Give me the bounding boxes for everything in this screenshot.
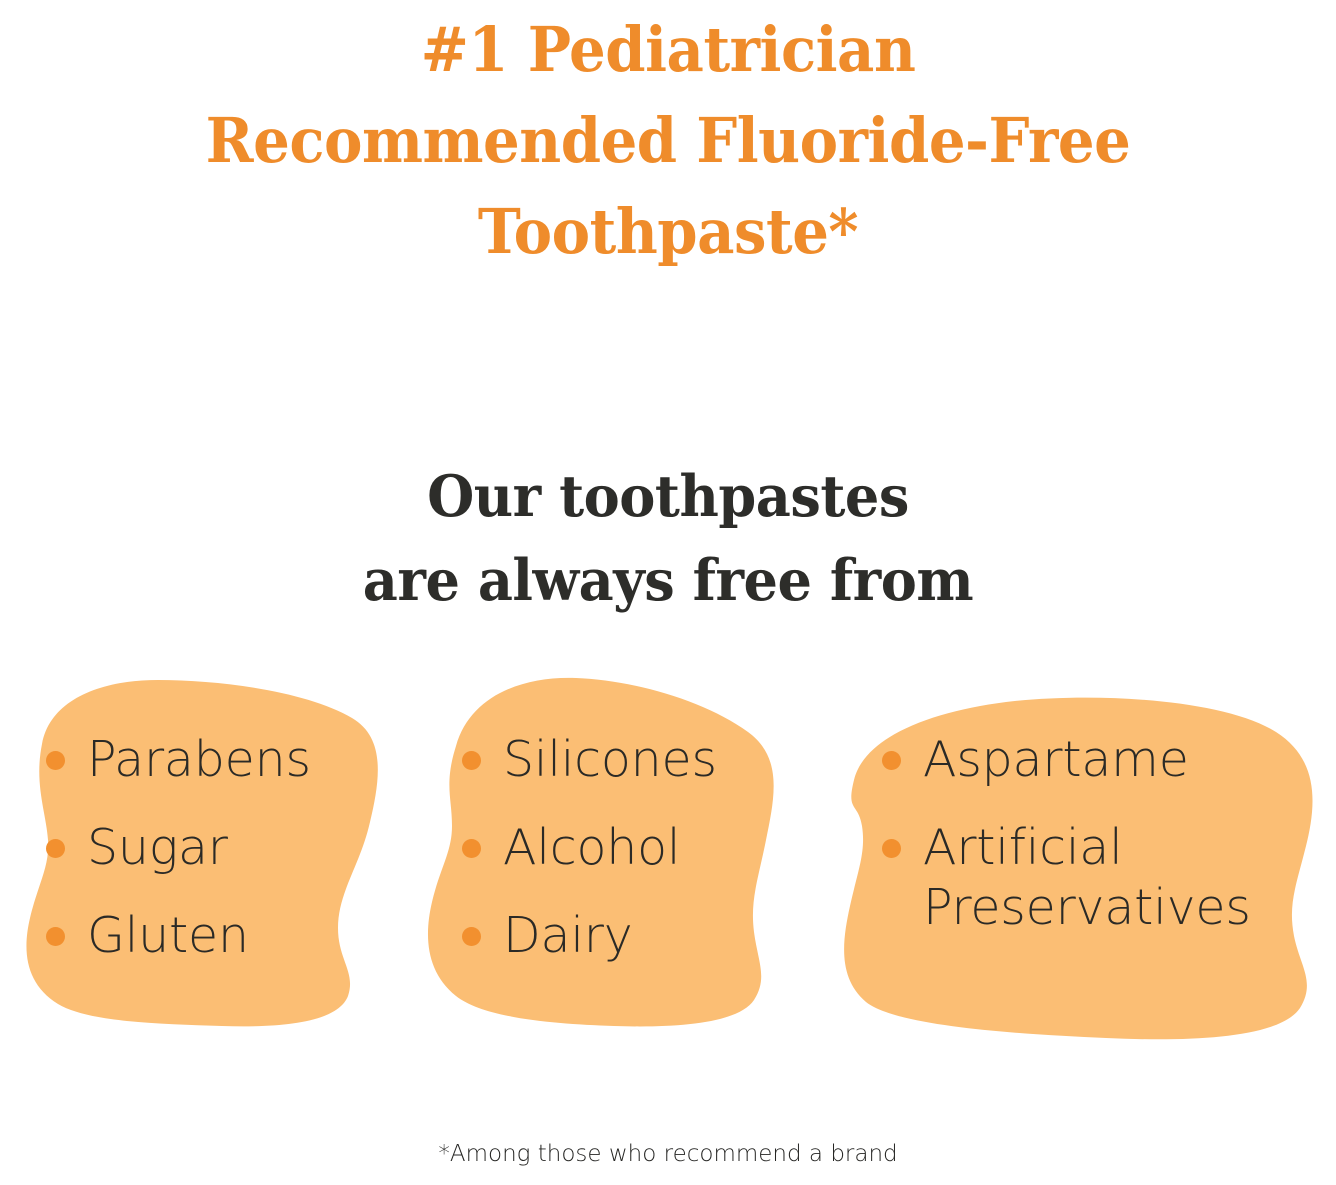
- list-item-label: Gluten: [87, 906, 249, 966]
- list-item: Aspartame: [882, 730, 1189, 790]
- list-item-label: Alcohol: [503, 818, 680, 878]
- list-item: Alcohol: [462, 818, 680, 878]
- list-item: Sugar: [46, 818, 228, 878]
- list-item-label: Parabens: [87, 730, 311, 790]
- bullet-dot-icon: [882, 839, 901, 858]
- list-item: Parabens: [46, 730, 311, 790]
- page-headline: #1 Pediatrician Recommended Fluoride-Fre…: [47, 4, 1289, 277]
- bullet-dot-icon: [46, 927, 65, 946]
- list-item: Silicones: [462, 730, 717, 790]
- list-item-label: Dairy: [503, 906, 633, 966]
- headline-line-2: Recommended Fluoride-Free: [47, 95, 1289, 186]
- free-from-list-3: Aspartame Artificial Preservatives: [838, 660, 1330, 1040]
- subheading-line-1: Our toothpastes: [33, 455, 1302, 539]
- bullet-dot-icon: [46, 751, 65, 770]
- headline-line-1: #1 Pediatrician: [47, 4, 1289, 95]
- free-from-list-1: Parabens Sugar Gluten: [8, 660, 388, 1040]
- footnote-disclaimer: *Among those who recommend a brand: [0, 1141, 1336, 1167]
- bullet-dot-icon: [462, 751, 481, 770]
- list-item-label: Silicones: [503, 730, 717, 790]
- list-item-label: Sugar: [87, 818, 228, 878]
- section-subheading: Our toothpastes are always free from: [33, 455, 1302, 623]
- free-from-list-2: Silicones Alcohol Dairy: [418, 660, 793, 1040]
- list-item: Gluten: [46, 906, 249, 966]
- list-item: Artificial Preservatives: [882, 818, 1251, 938]
- bullet-dot-icon: [46, 839, 65, 858]
- bullet-dot-icon: [462, 927, 481, 946]
- bullet-dot-icon: [462, 839, 481, 858]
- bullet-dot-icon: [882, 751, 901, 770]
- free-from-group-1: Parabens Sugar Gluten: [8, 660, 388, 1040]
- subheading-line-2: are always free from: [33, 539, 1302, 623]
- free-from-group-2: Silicones Alcohol Dairy: [418, 660, 793, 1040]
- free-from-group-3: Aspartame Artificial Preservatives: [838, 660, 1330, 1040]
- list-item: Dairy: [462, 906, 633, 966]
- free-from-blob-row: Parabens Sugar Gluten Silicones Alcohol: [0, 660, 1336, 1040]
- headline-line-3: Toothpaste*: [47, 186, 1289, 277]
- list-item-label: Artificial Preservatives: [923, 818, 1251, 938]
- list-item-label: Aspartame: [923, 730, 1189, 790]
